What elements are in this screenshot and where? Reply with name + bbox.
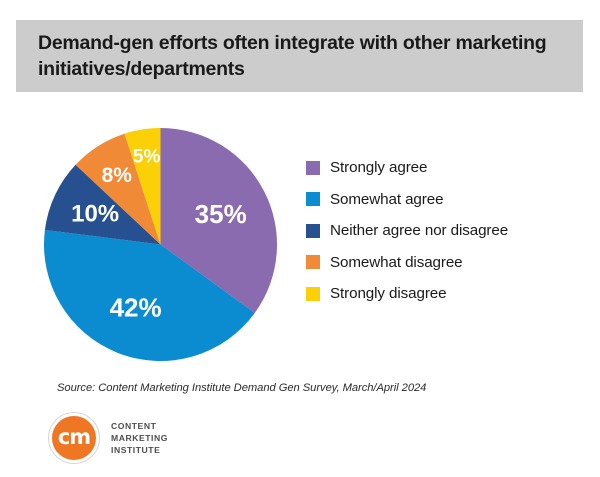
legend-item[interactable]: Strongly disagree [306, 278, 566, 310]
pie-slice-label: 35% [195, 199, 247, 229]
legend-swatch-icon [306, 192, 320, 206]
chart-title-band: Demand-gen efforts often integrate with … [16, 20, 583, 92]
pie-slice-label: 42% [110, 292, 162, 322]
source-note: Source: Content Marketing Institute Dema… [57, 382, 426, 394]
cmi-logo-wordmark: CONTENT MARKETING INSTITUTE [111, 420, 168, 457]
logo-word-line-1: CONTENT [111, 420, 168, 432]
pie-chart-svg: 35%42%10%8%5% [44, 128, 277, 361]
legend-item[interactable]: Strongly agree [306, 152, 566, 184]
legend-label: Somewhat disagree [330, 254, 463, 271]
legend-label: Neither agree nor disagree [330, 222, 508, 239]
legend-item[interactable]: Somewhat disagree [306, 247, 566, 279]
cmi-logo-mark-icon: cm [48, 412, 100, 464]
pie-slice-label: 8% [102, 164, 133, 187]
logo-word-line-2: MARKETING [111, 432, 168, 444]
chart-figure: Demand-gen efforts often integrate with … [0, 0, 600, 477]
page-title: Demand-gen efforts often integrate with … [38, 31, 565, 82]
legend-item[interactable]: Neither agree nor disagree [306, 215, 566, 247]
legend-swatch-icon [306, 224, 320, 238]
legend-item[interactable]: Somewhat agree [306, 184, 566, 216]
legend-swatch-icon [306, 161, 320, 175]
legend-swatch-icon [306, 287, 320, 301]
logo-word-line-3: INSTITUTE [111, 444, 168, 456]
pie-slice-label: 10% [71, 200, 119, 227]
cmi-logo: cm CONTENT MARKETING INSTITUTE [48, 412, 168, 464]
legend-label: Somewhat agree [330, 191, 443, 208]
logo-monogram: cm [48, 412, 100, 464]
chart-legend: Strongly agreeSomewhat agreeNeither agre… [306, 152, 566, 310]
legend-swatch-icon [306, 255, 320, 269]
legend-label: Strongly disagree [330, 285, 447, 302]
pie-slice-group [44, 128, 277, 361]
pie-chart: 35%42%10%8%5% [44, 128, 277, 361]
legend-label: Strongly agree [330, 159, 427, 176]
pie-slice-label: 5% [133, 147, 161, 168]
